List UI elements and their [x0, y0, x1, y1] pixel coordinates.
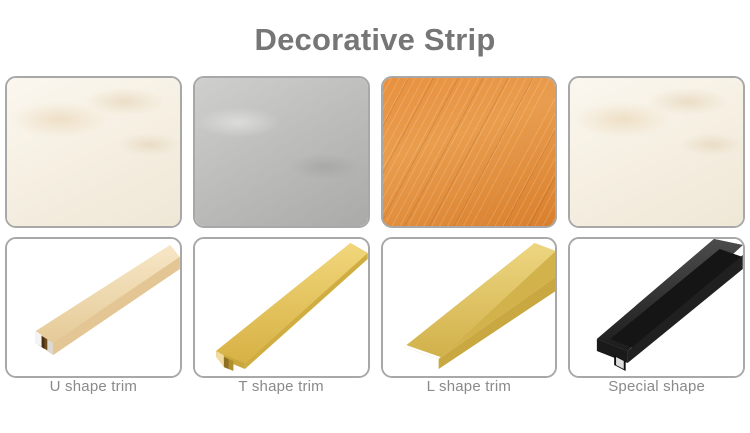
t-shape-trim-installed-scene — [195, 78, 368, 226]
u-shape-profile-illustration — [7, 239, 180, 376]
product-grid — [5, 76, 745, 378]
caption-special-shape: Special shape — [568, 378, 745, 395]
l-shape-profile-illustration — [383, 239, 556, 376]
caption-u-shape: U shape trim — [5, 378, 182, 395]
cream-marble-surface — [7, 78, 180, 226]
scene-card-t-shape[interactable] — [193, 76, 370, 228]
special-shape-trim-installed-scene — [570, 78, 743, 226]
scene-card-l-shape[interactable] — [381, 76, 558, 228]
product-showcase-page: Decorative Strip — [0, 0, 750, 433]
scene-card-special-shape[interactable] — [568, 76, 745, 228]
scene-card-u-shape[interactable] — [5, 76, 182, 228]
u-shape-trim-installed-scene — [7, 78, 180, 226]
u-shape-trim-profile — [7, 239, 180, 376]
t-shape-profile-illustration — [195, 239, 368, 376]
special-shape-profile-illustration — [570, 239, 743, 376]
l-shape-trim-installed-scene — [383, 78, 556, 226]
grey-stone-surface — [195, 78, 368, 226]
product-card-t-shape[interactable] — [193, 237, 370, 378]
orange-wood-surface — [383, 78, 556, 226]
product-profiles-row — [5, 237, 745, 378]
cream-marble-surface — [570, 78, 743, 226]
product-card-l-shape[interactable] — [381, 237, 558, 378]
caption-l-shape: L shape trim — [381, 378, 558, 395]
product-card-special-shape[interactable] — [568, 237, 745, 378]
special-shape-trim-profile — [570, 239, 743, 376]
t-shape-trim-profile — [195, 239, 368, 376]
page-title: Decorative Strip — [0, 22, 750, 58]
l-shape-trim-profile — [383, 239, 556, 376]
product-card-u-shape[interactable] — [5, 237, 182, 378]
installed-scenes-row — [5, 76, 745, 228]
caption-t-shape: T shape trim — [193, 378, 370, 395]
product-captions: U shape trim T shape trim L shape trim S… — [5, 378, 745, 395]
